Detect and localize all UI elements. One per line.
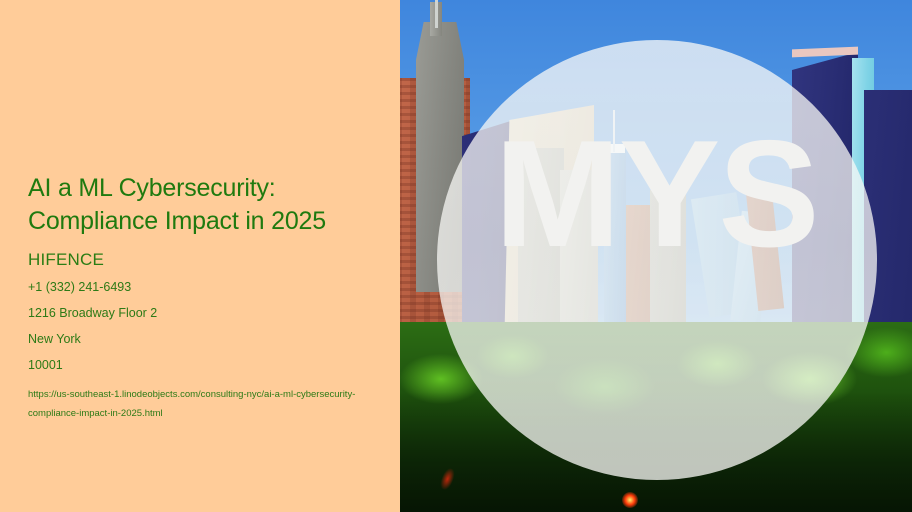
overlay-wordmark: MYS xyxy=(494,118,817,270)
phone-number[interactable]: +1 (332) 241-6493 xyxy=(28,277,378,297)
address-postal-code: 10001 xyxy=(28,355,378,375)
red-traffic-light-icon xyxy=(622,492,638,508)
overlay-text-wrap: MYS xyxy=(400,118,912,270)
address-street: 1216 Broadway Floor 2 xyxy=(28,303,378,323)
source-url-link[interactable]: https://us-southeast-1.linodeobjects.com… xyxy=(28,385,358,424)
cityscape-photo-panel: MYS xyxy=(400,0,912,512)
tower-antenna-icon xyxy=(435,0,438,28)
left-info-panel: AI a ML Cybersecurity: Compliance Impact… xyxy=(0,0,400,512)
page-title: AI a ML Cybersecurity: Compliance Impact… xyxy=(28,172,378,239)
brand-name: HIFENCE xyxy=(28,249,378,270)
left-panel-content: AI a ML Cybersecurity: Compliance Impact… xyxy=(28,172,378,424)
social-card-page: AI a ML Cybersecurity: Compliance Impact… xyxy=(0,0,912,512)
address-city: New York xyxy=(28,329,378,349)
